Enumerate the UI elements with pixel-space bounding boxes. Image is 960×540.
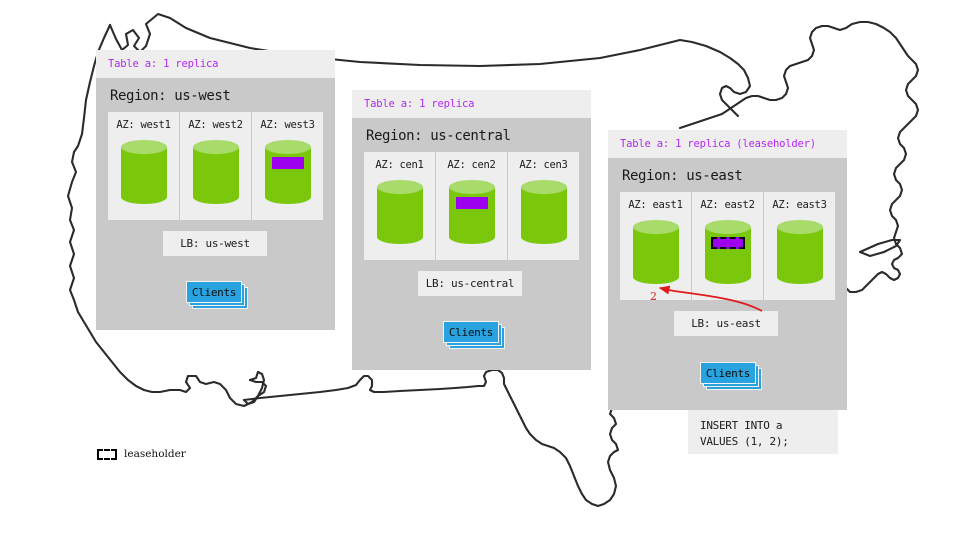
cylinder-top — [377, 180, 423, 194]
legend-label: leaseholder — [124, 448, 186, 460]
load-balancer-us-west: LB: us-west — [163, 231, 267, 256]
clients-button-us-central[interactable]: Clients — [443, 321, 499, 343]
node-cylinder — [265, 140, 311, 202]
clients-button-us-east[interactable]: Clients — [700, 362, 756, 384]
az-label: AZ: west3 — [260, 119, 314, 131]
node-cylinder — [449, 180, 495, 242]
az-cell: AZ: cen2 — [436, 152, 508, 260]
cylinder-body — [265, 147, 311, 197]
az-cell: AZ: east3 — [764, 192, 835, 300]
cylinder-top — [777, 220, 823, 234]
az-label: AZ: cen2 — [447, 159, 495, 171]
region-title-us-west: Region: us-west — [96, 78, 335, 112]
cylinder-top — [633, 220, 679, 234]
legend: leaseholder — [97, 448, 186, 460]
cylinder-top — [449, 180, 495, 194]
az-label: AZ: cen1 — [375, 159, 423, 171]
region-title-us-east: Region: us-east — [608, 158, 847, 192]
node-cylinder — [121, 140, 167, 202]
cylinder-body — [521, 187, 567, 237]
az-strip-us-east: AZ: east1AZ: east2AZ: east3 — [620, 192, 835, 300]
az-label: AZ: east2 — [700, 199, 754, 211]
replica — [272, 157, 304, 169]
az-cell: AZ: cen3 — [508, 152, 579, 260]
diagram-canvas: Table a: 1 replica (leaseholder)Region: … — [0, 0, 960, 540]
replica — [456, 197, 488, 209]
cylinder-body — [633, 227, 679, 277]
node-cylinder — [633, 220, 679, 282]
table-replica-label: Table a: 1 replica (leaseholder) — [620, 138, 816, 150]
panel-header-us-west: Table a: 1 replica — [96, 50, 335, 78]
az-cell: AZ: west3 — [252, 112, 323, 220]
cylinder-top — [521, 180, 567, 194]
dashed-rect-swatch — [97, 449, 117, 460]
arrow-step-label: 2 — [650, 290, 657, 303]
clients-button-us-west[interactable]: Clients — [186, 281, 242, 303]
cylinder-top — [121, 140, 167, 154]
az-label: AZ: cen3 — [519, 159, 567, 171]
clients-label: Clients — [186, 281, 242, 303]
node-cylinder — [705, 220, 751, 282]
az-cell: AZ: cen1 — [364, 152, 436, 260]
az-strip-us-central: AZ: cen1AZ: cen2AZ: cen3 — [364, 152, 579, 260]
az-cell: AZ: west2 — [180, 112, 252, 220]
clients-label: Clients — [700, 362, 756, 384]
cylinder-body — [705, 227, 751, 277]
region-title-us-central: Region: us-central — [352, 118, 591, 152]
node-cylinder — [377, 180, 423, 242]
cylinder-body — [121, 147, 167, 197]
az-cell: AZ: east2 — [692, 192, 764, 300]
panel-header-us-central: Table a: 1 replica — [352, 90, 591, 118]
az-label: AZ: west1 — [116, 119, 170, 131]
az-label: AZ: west2 — [188, 119, 242, 131]
az-label: AZ: east3 — [772, 199, 826, 211]
cylinder-body — [377, 187, 423, 237]
cylinder-top — [265, 140, 311, 154]
panel-header-us-east: Table a: 1 replica (leaseholder) — [608, 130, 847, 158]
cylinder-body — [449, 187, 495, 237]
cylinder-top — [705, 220, 751, 234]
cylinder-top — [193, 140, 239, 154]
node-cylinder — [521, 180, 567, 242]
cylinder-body — [777, 227, 823, 277]
az-label: AZ: east1 — [628, 199, 682, 211]
cylinder-body — [193, 147, 239, 197]
clients-label: Clients — [443, 321, 499, 343]
sql-statement-box: INSERT INTO a VALUES (1, 2); — [688, 410, 838, 454]
az-cell: AZ: east1 — [620, 192, 692, 300]
az-cell: AZ: west1 — [108, 112, 180, 220]
replica-leaseholder — [711, 237, 745, 249]
node-cylinder — [777, 220, 823, 282]
load-balancer-us-east: LB: us-east — [674, 311, 778, 336]
load-balancer-us-central: LB: us-central — [418, 271, 522, 296]
az-strip-us-west: AZ: west1AZ: west2AZ: west3 — [108, 112, 323, 220]
node-cylinder — [193, 140, 239, 202]
table-replica-label: Table a: 1 replica — [364, 98, 474, 110]
table-replica-label: Table a: 1 replica — [108, 58, 218, 70]
